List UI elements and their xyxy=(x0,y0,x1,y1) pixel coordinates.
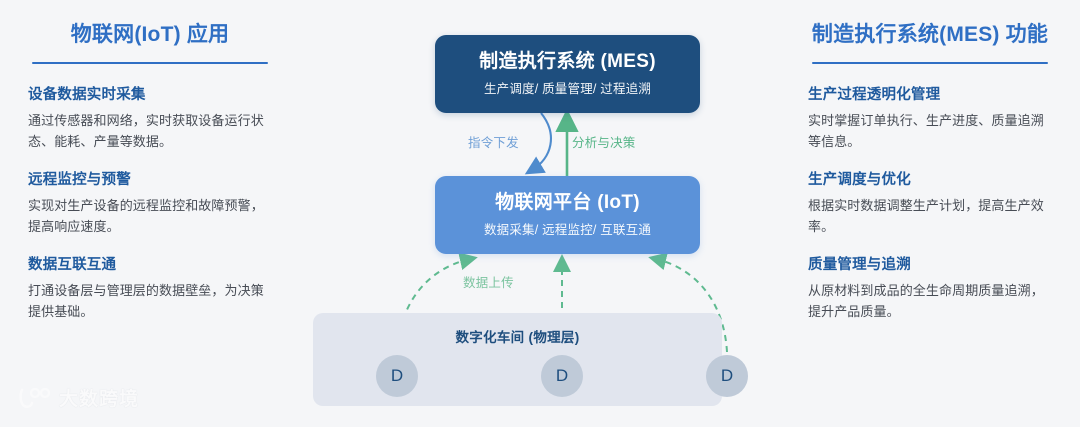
left-entry-1: 远程监控与预警 实现对生产设备的远程监控和故障预警，提高响应速度。 xyxy=(28,171,272,237)
device-node-0[interactable]: D xyxy=(376,355,418,397)
left-column-divider xyxy=(32,62,268,64)
right-entry-0-title: 生产过程透明化管理 xyxy=(808,86,1052,105)
right-column-title: 制造执行系统(MES) 功能 xyxy=(808,22,1052,49)
right-entry-1: 生产调度与优化 根据实时数据调整生产计划，提高生产效率。 xyxy=(808,171,1052,237)
right-entry-2-title: 质量管理与追溯 xyxy=(808,256,1052,275)
node-iot-title: 物联网平台 (IoT) xyxy=(495,192,640,215)
architecture-diagram: 制造执行系统 (MES) 生产调度/ 质量管理/ 过程追溯 物联网平台 (IoT… xyxy=(300,0,780,427)
left-entry-2: 数据互联互通 打通设备层与管理层的数据壁垒，为决策提供基础。 xyxy=(28,256,272,322)
left-column: 物联网(IoT) 应用 设备数据实时采集 通过传感器和网络，实时获取设备运行状态… xyxy=(0,0,300,427)
right-entry-1-body: 根据实时数据调整生产计划，提高生产效率。 xyxy=(808,195,1052,237)
left-entry-2-title: 数据互联互通 xyxy=(28,256,272,275)
infographic-root: 物联网(IoT) 应用 设备数据实时采集 通过传感器和网络，实时获取设备运行状态… xyxy=(0,0,1080,427)
left-column-title: 物联网(IoT) 应用 xyxy=(28,22,272,49)
right-entry-2-body: 从原材料到成品的全生命周期质量追溯，提升产品质量。 xyxy=(808,280,1052,322)
right-column-divider xyxy=(812,62,1048,64)
physical-layer-panel: 数字化车间 (物理层) xyxy=(313,313,722,406)
node-iot-subtitle: 数据采集/ 远程监控/ 互联互通 xyxy=(484,222,651,238)
left-entry-0-body: 通过传感器和网络，实时获取设备运行状态、能耗、产量等数据。 xyxy=(28,110,272,152)
node-mes[interactable]: 制造执行系统 (MES) 生产调度/ 质量管理/ 过程追溯 xyxy=(435,35,700,113)
node-iot-platform[interactable]: 物联网平台 (IoT) 数据采集/ 远程监控/ 互联互通 xyxy=(435,176,700,254)
right-entry-2: 质量管理与追溯 从原材料到成品的全生命周期质量追溯，提升产品质量。 xyxy=(808,256,1052,322)
right-entry-0-body: 实时掌握订单执行、生产进度、质量追溯等信息。 xyxy=(808,110,1052,152)
right-entry-0: 生产过程透明化管理 实时掌握订单执行、生产进度、质量追溯等信息。 xyxy=(808,86,1052,152)
left-entry-1-body: 实现对生产设备的远程监控和故障预警，提高响应速度。 xyxy=(28,195,272,237)
left-entry-2-body: 打通设备层与管理层的数据壁垒，为决策提供基础。 xyxy=(28,280,272,322)
device-node-2-label: D xyxy=(721,366,733,386)
device-node-1[interactable]: D xyxy=(541,355,583,397)
edge-label-upload: 数据上传 xyxy=(463,272,514,291)
right-column: 制造执行系统(MES) 功能 生产过程透明化管理 实时掌握订单执行、生产进度、质… xyxy=(780,0,1080,427)
left-entry-0-title: 设备数据实时采集 xyxy=(28,86,272,105)
left-entry-0: 设备数据实时采集 通过传感器和网络，实时获取设备运行状态、能耗、产量等数据。 xyxy=(28,86,272,152)
edge-label-command: 指令下发 xyxy=(468,132,519,151)
edge-command-arrow xyxy=(532,113,551,170)
right-entry-1-title: 生产调度与优化 xyxy=(808,171,1052,190)
device-node-1-label: D xyxy=(556,366,568,386)
device-node-2[interactable]: D xyxy=(706,355,748,397)
center-diagram-column: 制造执行系统 (MES) 生产调度/ 质量管理/ 过程追溯 物联网平台 (IoT… xyxy=(300,0,780,427)
device-node-0-label: D xyxy=(391,366,403,386)
left-entry-1-title: 远程监控与预警 xyxy=(28,171,272,190)
physical-layer-label: 数字化车间 (物理层) xyxy=(313,326,722,346)
node-mes-title: 制造执行系统 (MES) xyxy=(479,51,656,74)
edge-label-analysis: 分析与决策 xyxy=(572,132,636,151)
node-mes-subtitle: 生产调度/ 质量管理/ 过程追溯 xyxy=(484,81,651,97)
